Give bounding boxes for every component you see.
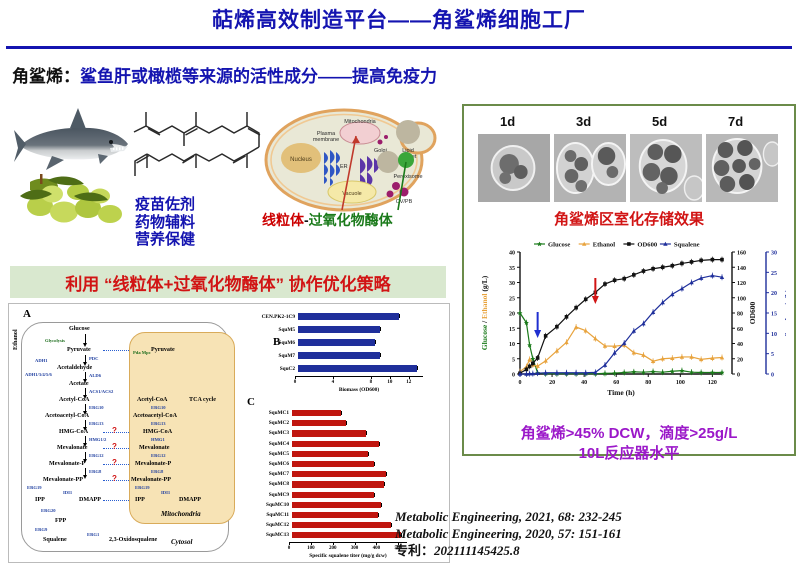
mito-gene-erg8: ERG8 bbox=[151, 469, 163, 474]
error-bar bbox=[375, 340, 379, 344]
x-tick bbox=[390, 376, 391, 379]
patent-number: 202111145425.8 bbox=[434, 543, 520, 558]
bar-track bbox=[298, 365, 437, 371]
gene-adh1: ADH1 bbox=[35, 358, 48, 363]
bar-category-label: SquMC5 bbox=[237, 451, 292, 457]
y-tick-label-od600: 80 bbox=[737, 312, 743, 318]
legend-label-od600: OD600 bbox=[637, 242, 657, 249]
bar-fill bbox=[292, 481, 384, 487]
x-tick-label: 400 bbox=[371, 546, 381, 551]
bar-fill bbox=[298, 339, 375, 345]
question-mark: ? bbox=[112, 458, 117, 467]
data-point bbox=[642, 269, 646, 273]
data-point bbox=[661, 265, 665, 269]
gene-erg8: ERG8 bbox=[89, 469, 101, 474]
x-tick-label: 20 bbox=[549, 380, 555, 386]
data-point bbox=[574, 306, 578, 310]
error-bar bbox=[380, 353, 384, 357]
error-bar bbox=[380, 327, 384, 331]
bar-track bbox=[292, 441, 437, 447]
pw-acetaldehyde: Acetaldehyde bbox=[57, 365, 92, 371]
data-point bbox=[565, 315, 569, 319]
benefit-item: 营养保健 bbox=[135, 231, 195, 249]
mitochondria-compartment bbox=[129, 332, 235, 524]
tem-label-5d: 5d bbox=[652, 114, 667, 129]
pw-mevalonate: Mevalonate bbox=[57, 445, 87, 451]
error-bar bbox=[366, 431, 370, 435]
mito-dmapp: DMAPP bbox=[179, 497, 201, 503]
gene-acs: ACS1/ACS2 bbox=[89, 389, 113, 394]
fermentation-chart: 0510152025303540020406080100120140160051… bbox=[474, 234, 786, 406]
bar-fill bbox=[292, 471, 386, 477]
bar-fill bbox=[292, 532, 401, 538]
reference-item: Metabolic Engineering, 2021, 68: 232-245 bbox=[395, 508, 795, 525]
error-bar bbox=[384, 482, 388, 486]
bar-track bbox=[292, 430, 437, 436]
y-tick-label-left: 15 bbox=[509, 327, 515, 333]
x-tick-label: 40 bbox=[581, 380, 587, 386]
data-point bbox=[603, 282, 607, 286]
subtitle-key: 角鲨烯： bbox=[12, 67, 80, 86]
y-tick-label-od600: 120 bbox=[737, 281, 746, 287]
data-point bbox=[680, 262, 684, 266]
legend-label-glucose: Glucose bbox=[548, 242, 570, 249]
results-panel: 1d 3d 5d 7d 角鲨烯区室化存储效果 05101520253035400… bbox=[462, 104, 796, 456]
bar-category-label: SquC2 bbox=[237, 366, 298, 372]
error-bar bbox=[341, 411, 345, 415]
benefits-list: 疫苗佐剂 药物辅料 营养保健 bbox=[135, 196, 195, 249]
tem-label-row: 1d 3d 5d 7d bbox=[478, 114, 778, 132]
gene-erg13: ERG13 bbox=[89, 421, 104, 426]
bar-category-label: SquM7 bbox=[237, 353, 298, 359]
x-tick-label: 120 bbox=[708, 380, 717, 386]
x-axis-title: Time (h) bbox=[607, 388, 635, 397]
bar-row: SquMC7 bbox=[237, 469, 437, 479]
pw-dmapp: DMAPP bbox=[79, 497, 101, 503]
x-axis-title: Biomass (OD600) bbox=[295, 387, 423, 393]
x-tick-label: 0 bbox=[519, 380, 522, 386]
reference-item: Metabolic Engineering, 2020, 57: 151-161 bbox=[395, 525, 795, 542]
series-line-glucose bbox=[520, 313, 722, 374]
y-tick-label-squalene: 30 bbox=[771, 251, 777, 257]
bar-fill bbox=[292, 512, 378, 518]
mito-mevalonate: Mevalonate bbox=[139, 445, 169, 451]
data-point bbox=[531, 362, 535, 366]
gene-erg10: ERG10 bbox=[89, 405, 104, 410]
data-point bbox=[699, 259, 703, 263]
y-axis-title-od600: OD600 bbox=[748, 302, 757, 325]
mito-acetoacetylcoa: Acetoacetyl-CoA bbox=[133, 413, 177, 419]
pw-fpp: FPP bbox=[55, 518, 66, 524]
x-axis-title: Specific squalene titer (mg/g dcw) bbox=[289, 553, 407, 559]
tem-label-1d: 1d bbox=[500, 114, 515, 129]
bar-fill bbox=[292, 441, 379, 447]
series-line-ethanol bbox=[520, 327, 722, 372]
x-tick-label: 100 bbox=[676, 380, 685, 386]
bar-category-label: SquMC12 bbox=[237, 522, 292, 528]
bar-fill bbox=[292, 410, 341, 416]
y-tick-label-od600: 0 bbox=[737, 373, 740, 379]
gene-erg19: ERG19 bbox=[27, 485, 42, 490]
bar-category-label: SquMC4 bbox=[237, 441, 292, 447]
data-point bbox=[622, 277, 626, 281]
x-tick-label: 100 bbox=[306, 546, 316, 551]
data-point bbox=[536, 356, 540, 360]
data-point bbox=[537, 242, 542, 247]
question-mark: ? bbox=[112, 474, 117, 483]
mito-gene-hmg1: HMG1 bbox=[151, 437, 165, 442]
pw-pyruvate: Pyruvate bbox=[67, 347, 91, 353]
x-tick-label: 0 bbox=[284, 546, 294, 551]
y-axis-title-squalene: Squalene (g/L) bbox=[783, 289, 786, 336]
bar-track bbox=[292, 502, 437, 508]
data-point bbox=[690, 260, 694, 264]
error-bar bbox=[417, 366, 421, 370]
question-mark: ? bbox=[112, 442, 117, 451]
bar-fill bbox=[292, 420, 346, 426]
x-tick bbox=[289, 542, 290, 545]
bar-row: SquMC9 bbox=[237, 490, 437, 500]
cytosol-label: Cytosol bbox=[171, 538, 192, 546]
bar-row: SquMC1 bbox=[237, 408, 437, 418]
mito-gene-erg10: ERG10 bbox=[151, 405, 166, 410]
y-tick-label-od600: 60 bbox=[737, 327, 743, 333]
bar-track bbox=[298, 352, 437, 358]
mito-mevalonate-p: Mevalonate-P bbox=[135, 461, 171, 467]
mito-gene-idi1: IDI1 bbox=[161, 490, 170, 495]
legend-label-squalene: Squalene bbox=[674, 242, 700, 249]
mito-mevalonate-pp: Mevalonate-PP bbox=[131, 477, 171, 483]
x-tick bbox=[311, 542, 312, 545]
x-axis-line bbox=[289, 542, 407, 543]
bar-category-label: SquMC3 bbox=[237, 430, 292, 436]
bar-category-label: SquM5 bbox=[237, 327, 298, 333]
x-tick bbox=[355, 542, 356, 545]
y-tick-label-od600: 20 bbox=[737, 357, 743, 363]
error-bar bbox=[381, 503, 385, 507]
benefit-item: 疫苗佐剂 bbox=[135, 196, 195, 214]
pw-squalene: Squalene bbox=[43, 537, 67, 543]
bar-category-label: SquMC6 bbox=[237, 461, 292, 467]
bar-row: SquM5 bbox=[237, 323, 437, 336]
yeast-cell-diagram: Nucleus Mitochondria Plasma membrane Lip… bbox=[256, 102, 438, 214]
data-point bbox=[544, 334, 548, 338]
y-tick-label-left: 10 bbox=[509, 342, 515, 348]
gene-idi1: IDI1 bbox=[63, 490, 72, 495]
tem-image-5d bbox=[630, 134, 702, 202]
svg-text:Mitochondria: Mitochondria bbox=[344, 119, 376, 125]
mito-gene-erg19: ERG19 bbox=[135, 485, 150, 490]
error-bar bbox=[378, 513, 382, 517]
mito-gene-erg12: ERG12 bbox=[151, 453, 166, 458]
bar-category-label: SquMC11 bbox=[237, 512, 292, 518]
tem-image-7d bbox=[706, 134, 778, 202]
bar-track bbox=[292, 451, 437, 457]
x-axis-line bbox=[295, 376, 423, 377]
bar-category-label: SquMC13 bbox=[237, 532, 292, 538]
y-tick-label-left: 25 bbox=[509, 296, 515, 302]
mitochondria-label-italic: Mitochondria bbox=[161, 510, 201, 518]
x-tick-label: 8 bbox=[366, 380, 376, 385]
patent-label: 专利： bbox=[395, 543, 434, 558]
result-line-1: 角鲨烯>45% DCW，滴度>25g/L bbox=[464, 424, 794, 444]
bar-track bbox=[298, 339, 437, 345]
bar-fill bbox=[298, 313, 399, 319]
mito-gene-erg13: ERG13 bbox=[151, 421, 166, 426]
x-tick-label: 0 bbox=[290, 380, 300, 385]
pw-glycolysis: Glycolysis bbox=[45, 338, 65, 343]
bar-track bbox=[292, 410, 437, 416]
data-point bbox=[613, 278, 617, 282]
data-point bbox=[671, 264, 675, 268]
mito-acetylcoa: Acetyl-CoA bbox=[137, 397, 167, 403]
result-line-2: 10L反应器水平 bbox=[464, 444, 794, 464]
bar-row: CEN.PK2-1C9 bbox=[237, 310, 437, 323]
mitochondria-label: 线粒体 bbox=[262, 212, 304, 228]
pw-oxidosqualene: 2,3-Oxidosqualene bbox=[109, 537, 157, 543]
pw-ethanol: Ethanol bbox=[13, 329, 19, 350]
bar-row: SquC2 bbox=[237, 362, 437, 375]
error-bar bbox=[399, 314, 403, 318]
data-point bbox=[528, 365, 532, 369]
bar-fill bbox=[292, 522, 391, 528]
bar-row: SquM6 bbox=[237, 336, 437, 349]
error-bar bbox=[386, 472, 390, 476]
tem-label-7d: 7d bbox=[728, 114, 743, 129]
tem-image-row bbox=[478, 134, 778, 202]
x-tick bbox=[376, 542, 377, 545]
gene-pdc: PDC bbox=[89, 356, 98, 361]
error-bar bbox=[374, 462, 378, 466]
bar-fill bbox=[292, 451, 368, 457]
bar-category-label: SquMC9 bbox=[237, 492, 292, 498]
pw-mevalonate-pp: Mevalonate-PP bbox=[43, 477, 83, 483]
bar-row: SquMC5 bbox=[237, 449, 437, 459]
bar-track bbox=[298, 313, 437, 319]
pw-ipp: IPP bbox=[35, 497, 45, 503]
y-tick-label-left: 0 bbox=[512, 373, 515, 379]
error-bar bbox=[374, 493, 378, 497]
bar-category-label: CEN.PK2-1C9 bbox=[237, 314, 298, 320]
bar-fill bbox=[292, 430, 366, 436]
x-tick bbox=[409, 376, 410, 379]
y-tick-label-od600: 160 bbox=[737, 251, 746, 257]
pw-hmgcoa: HMG-CoA bbox=[59, 429, 88, 435]
data-point bbox=[584, 297, 588, 301]
data-point bbox=[525, 368, 529, 372]
red-arrow-head bbox=[592, 296, 599, 304]
subtitle: 角鲨烯：鲨鱼肝或橄榄等来源的活性成分——提高免疫力 bbox=[12, 62, 712, 87]
organelle-callout: 线粒体-过氧化物酶体 bbox=[262, 210, 393, 230]
squalene-structure-image bbox=[126, 100, 272, 196]
y-tick-label-od600: 140 bbox=[737, 266, 746, 272]
data-point bbox=[632, 273, 636, 277]
bar-fill bbox=[298, 365, 417, 371]
pw-glucose: Glucose bbox=[69, 326, 90, 332]
y-tick-label-squalene: 15 bbox=[771, 312, 777, 318]
x-tick-label: 10 bbox=[385, 380, 395, 385]
bar-track bbox=[298, 326, 437, 332]
pw-acetate: Acetate bbox=[69, 381, 89, 387]
mito-hmgcoa: HMG-CoA bbox=[143, 429, 172, 435]
panel-b-bars: CEN.PK2-1C9SquM5SquM6SquM7SquC2 bbox=[237, 310, 437, 375]
question-mark: ? bbox=[112, 426, 117, 435]
blue-arrow-head bbox=[534, 330, 541, 338]
gene-erg12: ERG12 bbox=[89, 453, 104, 458]
y-tick-label-squalene: 0 bbox=[771, 373, 774, 379]
x-tick-label: 60 bbox=[613, 380, 619, 386]
patent-line: 专利：202111145425.8 bbox=[395, 542, 795, 559]
gene-pda-mpc: Pda Mpc bbox=[133, 350, 151, 355]
bar-category-label: SquMC1 bbox=[237, 410, 292, 416]
x-tick bbox=[371, 376, 372, 379]
pw-acetylcoa: Acetyl-CoA bbox=[59, 397, 89, 403]
gene-adh-multi: ADH1/3/4/5/6 bbox=[25, 372, 52, 377]
mito-pyruvate: Pyruvate bbox=[151, 347, 175, 353]
y-tick-label-squalene: 25 bbox=[771, 271, 777, 277]
tem-image-1d bbox=[478, 134, 550, 202]
error-bar bbox=[379, 442, 383, 446]
bar-track bbox=[292, 481, 437, 487]
svg-text:ER: ER bbox=[340, 164, 348, 170]
bar-category-label: SquM6 bbox=[237, 340, 298, 346]
tem-image-3d bbox=[554, 134, 626, 202]
panel-a-pathway: A Glucose Glycolysis Pyruvate PDC Acetal… bbox=[11, 306, 235, 558]
gene-ald6: ALD6 bbox=[89, 373, 101, 378]
gene-erg9: ERG9 bbox=[35, 527, 47, 532]
bar-track bbox=[292, 471, 437, 477]
bar-row: SquMC3 bbox=[237, 428, 437, 438]
peroxisome-label: 过氧化物酶体 bbox=[309, 212, 393, 228]
data-point bbox=[720, 258, 724, 262]
error-bar bbox=[368, 452, 372, 456]
strategy-banner: 利用 “线粒体+过氧化物酶体” 协作优化策略 bbox=[10, 266, 446, 298]
references-block: Metabolic Engineering, 2021, 68: 232-245… bbox=[395, 508, 795, 559]
bar-fill bbox=[292, 461, 374, 467]
svg-text:Peroxisome: Peroxisome bbox=[393, 174, 422, 180]
bar-row: SquMC4 bbox=[237, 439, 437, 449]
data-point bbox=[527, 357, 531, 361]
bar-fill bbox=[298, 326, 380, 332]
bar-track bbox=[292, 492, 437, 498]
x-tick-label: 200 bbox=[328, 546, 338, 551]
figure-composite: A Glucose Glycolysis Pyruvate PDC Acetal… bbox=[8, 303, 450, 563]
y-tick-label-left: 35 bbox=[509, 266, 515, 272]
data-point bbox=[711, 258, 715, 262]
y-tick-label-od600: 100 bbox=[737, 296, 746, 302]
legend-label-ethanol: Ethanol bbox=[593, 242, 616, 249]
y-tick-label-od600: 40 bbox=[737, 342, 743, 348]
y-tick-label-left: 20 bbox=[509, 312, 515, 318]
x-tick-label: 300 bbox=[350, 546, 360, 551]
benefit-item: 药物辅料 bbox=[135, 214, 195, 232]
mito-tca: TCA cycle bbox=[189, 397, 216, 403]
subtitle-value: 鲨鱼肝或橄榄等来源的活性成分——提高免疫力 bbox=[80, 67, 437, 86]
y-tick-label-squalene: 10 bbox=[771, 332, 777, 338]
bar-row: SquM7 bbox=[237, 349, 437, 362]
page-title: 萜烯高效制造平台——角鲨烯细胞工厂 bbox=[0, 4, 798, 34]
bar-category-label: SquMC2 bbox=[237, 420, 292, 426]
x-tick bbox=[333, 376, 334, 379]
gene-erg1: ERG1 bbox=[87, 532, 99, 537]
panel-c-letter: C bbox=[247, 396, 255, 408]
pw-mevalonate-p: Mevalonate-P bbox=[49, 461, 85, 467]
y-axis-title-left: Glucose / Ethanol (g/L) bbox=[480, 275, 489, 350]
x-tick bbox=[295, 376, 296, 379]
bar-track bbox=[292, 420, 437, 426]
y-tick-label-left: 5 bbox=[512, 357, 515, 363]
svg-text:membrane: membrane bbox=[313, 137, 339, 143]
x-tick-label: 80 bbox=[645, 380, 651, 386]
bar-category-label: SquMC10 bbox=[237, 502, 292, 508]
bar-row: SquMC2 bbox=[237, 418, 437, 428]
data-point bbox=[555, 325, 559, 329]
y-tick-label-squalene: 20 bbox=[771, 291, 777, 297]
data-point bbox=[651, 267, 655, 271]
title-divider bbox=[6, 46, 792, 49]
error-bar bbox=[346, 421, 350, 425]
tem-caption: 角鲨烯区室化存储效果 bbox=[464, 208, 794, 229]
bar-category-label: SquMC7 bbox=[237, 471, 292, 477]
bar-category-label: SquMC8 bbox=[237, 481, 292, 487]
gene-erg20: ERG20 bbox=[41, 508, 56, 513]
slide-root: 萜烯高效制造平台——角鲨烯细胞工厂 角鲨烯：鲨鱼肝或橄榄等来源的活性成分——提高… bbox=[0, 0, 798, 569]
pw-acetoacetylcoa: Acetoacetyl-CoA bbox=[45, 413, 89, 419]
bar-row: SquMC8 bbox=[237, 479, 437, 489]
olive-image bbox=[12, 166, 130, 228]
result-summary: 角鲨烯>45% DCW，滴度>25g/L 10L反应器水平 bbox=[464, 424, 794, 463]
x-tick bbox=[333, 542, 334, 545]
bar-fill bbox=[292, 492, 374, 498]
data-point bbox=[627, 242, 631, 246]
bar-track bbox=[292, 461, 437, 467]
x-tick-label: 12 bbox=[404, 380, 414, 385]
tem-label-3d: 3d bbox=[576, 114, 591, 129]
panel-a-letter: A bbox=[23, 308, 31, 320]
y-tick-label-left: 40 bbox=[509, 251, 515, 257]
mito-ipp: IPP bbox=[135, 497, 145, 503]
bar-row: SquMC6 bbox=[237, 459, 437, 469]
bar-fill bbox=[292, 502, 381, 508]
panel-b-chart: B CEN.PK2-1C9SquM5SquM6SquM7SquC2 048101… bbox=[237, 306, 447, 392]
x-tick-label: 4 bbox=[328, 380, 338, 385]
bar-fill bbox=[298, 352, 380, 358]
y-tick-label-squalene: 5 bbox=[771, 352, 774, 358]
gene-hmg12: HMG1/2 bbox=[89, 437, 106, 442]
data-point bbox=[574, 325, 578, 329]
svg-text:Nucleus: Nucleus bbox=[290, 157, 312, 163]
y-tick-label-left: 30 bbox=[509, 281, 515, 287]
